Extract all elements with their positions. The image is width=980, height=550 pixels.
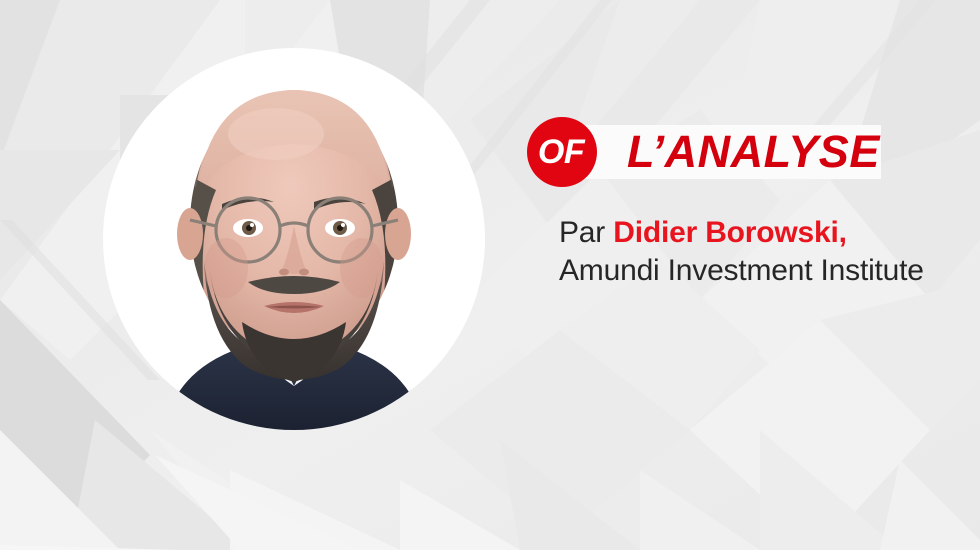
analysis-banner: OF L’ANALYSE Par Didier Borowski, Amundi… [0, 0, 980, 550]
of-badge-label: OF [538, 135, 586, 169]
of-badge-icon: OF [527, 117, 597, 187]
byline-line-author: Par Didier Borowski, [559, 214, 969, 252]
portrait-photo [144, 56, 444, 430]
analyse-title: L’ANALYSE [627, 126, 880, 178]
byline-author-name: Didier Borowski, [613, 216, 847, 249]
byline: Par Didier Borowski, Amundi Investment I… [559, 214, 969, 290]
avatar [103, 48, 485, 430]
byline-prefix: Par [559, 216, 613, 249]
of-analyse-logo: OF L’ANALYSE [527, 117, 887, 187]
byline-organisation: Amundi Investment Institute [559, 252, 969, 290]
